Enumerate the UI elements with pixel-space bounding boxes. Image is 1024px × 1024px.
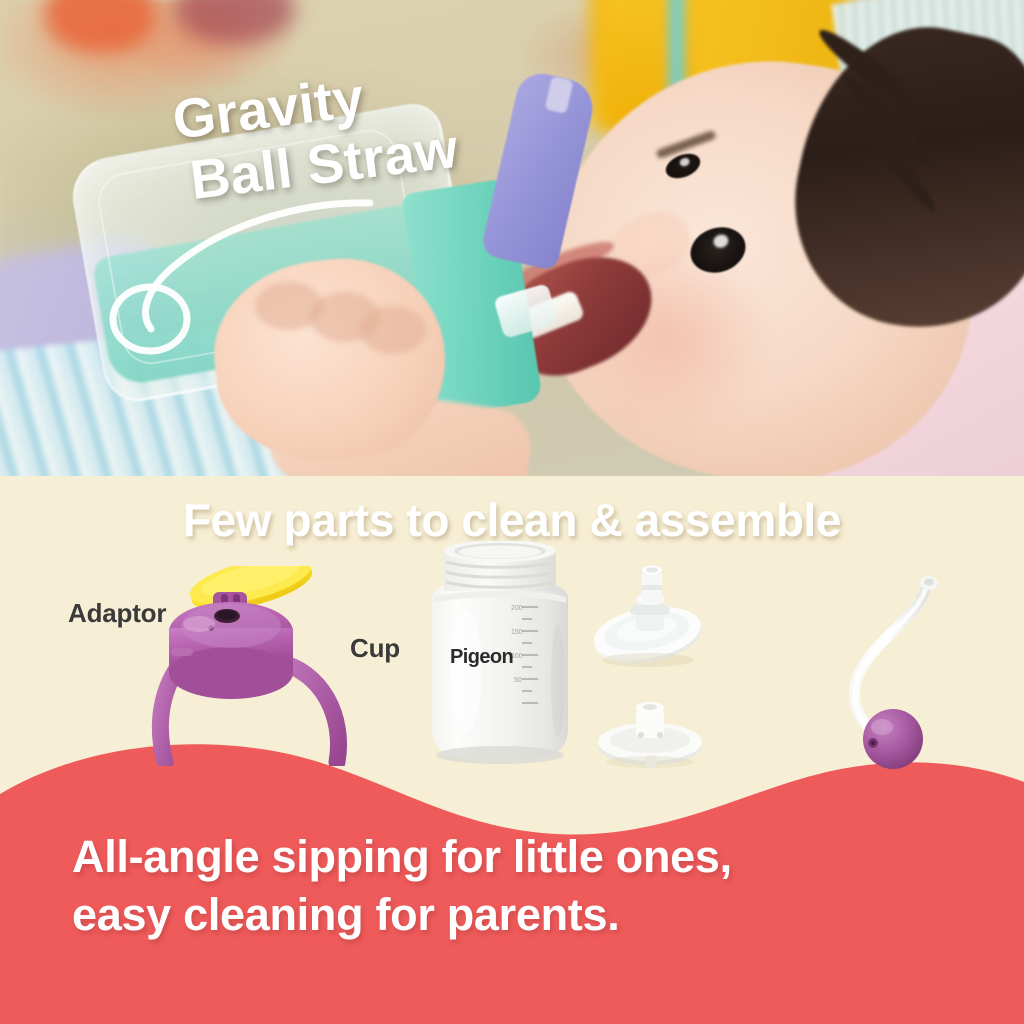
svg-text:50: 50 [514,677,522,684]
svg-text:Pigeon: Pigeon [450,646,513,668]
footer-tagline-line2: easy cleaning for parents. [72,886,972,944]
label-adaptor: Adaptor [68,598,166,629]
parts-heading: Few parts to clean & assemble [0,493,1024,547]
straw-part-image [590,561,720,671]
label-cup: Cup [350,633,400,664]
footer-tagline-line1: All-angle sipping for little ones, [72,828,972,886]
gravity-ball-straw-illustration [95,195,445,375]
product-banner: Gravity Ball Straw Few parts to clean & … [0,0,1024,1024]
svg-text:200: 200 [511,605,523,612]
gravity-ball-straw-part-image [835,571,965,771]
cup-part-image: 200 150 100 50 Pigeon [410,541,590,771]
hero-photo: Gravity Ball Straw [0,0,1024,476]
svg-text:150: 150 [511,629,523,636]
adaptor-part-image [125,566,375,766]
straw-connector-part-image [592,686,712,776]
footer-tagline: All-angle sipping for little ones, easy … [72,828,972,943]
